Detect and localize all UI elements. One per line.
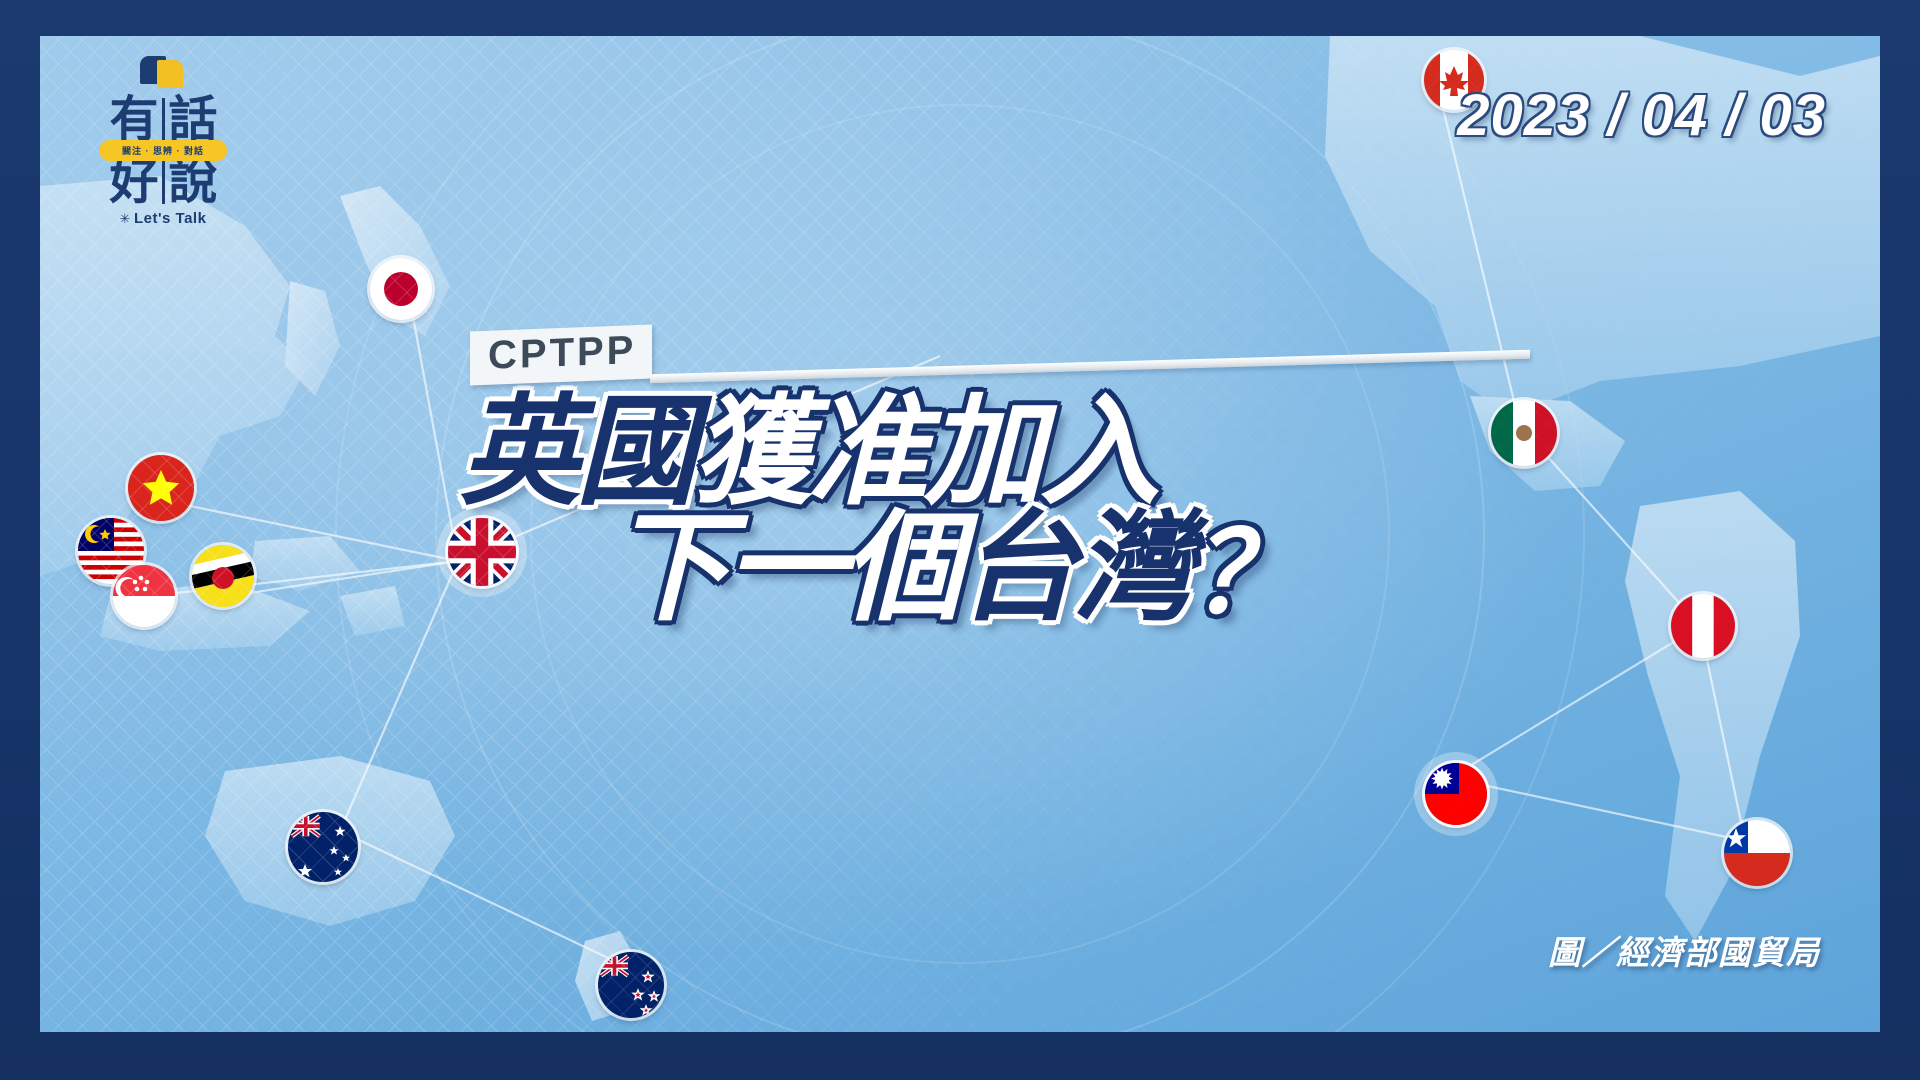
image-credit: 圖／經濟部國貿局	[1548, 926, 1820, 974]
program-logo[interactable]: 有 話 關注 · 思辨 · 對話 好 說 ✳ Let's Talk	[68, 48, 258, 263]
topic-tag-cptpp: CPTPP	[470, 324, 652, 385]
broadcast-date: 2023 / 04 / 03	[1457, 82, 1826, 149]
logo-char-shuo: 說	[169, 158, 217, 206]
logo-row-2: 好 說	[68, 158, 258, 206]
logo-mark-icon	[140, 54, 186, 94]
headline-line-1: 英國 獲准加入	[460, 392, 1530, 514]
logo-subtitle: ✳ Let's Talk	[68, 210, 258, 227]
sparkle-icon: ✳	[120, 211, 131, 227]
headline-line-2: 下一個 台灣 ？	[610, 508, 1530, 630]
topic-tag-rule	[650, 349, 1530, 383]
poster-frame: 有 話 關注 · 思辨 · 對話 好 說 ✳ Let's Talk 2023 /…	[0, 0, 1920, 1080]
headline-line2-question-mark: ？	[1190, 517, 1298, 631]
logo-char-hua: 話	[169, 96, 217, 144]
headline-line2-part2: 台灣	[958, 508, 1190, 630]
logo-row-1: 有 話	[68, 96, 258, 144]
logo-banner: 關注 · 思辨 · 對話	[99, 140, 227, 161]
map-stage: 有 話 關注 · 思辨 · 對話 好 說 ✳ Let's Talk 2023 /…	[40, 36, 1880, 1032]
headline-line1-part1: 英國	[460, 392, 692, 514]
logo-subtitle-text: Let's Talk	[134, 210, 206, 227]
logo-divider	[162, 98, 165, 142]
topic-tag-row: CPTPP	[470, 328, 1530, 382]
headline-line1-part2: 獲准加入	[692, 392, 1156, 514]
logo-char-hao: 好	[109, 158, 157, 206]
logo-char-you: 有	[109, 96, 157, 144]
headline-line2-part1: 下一個	[610, 508, 958, 630]
headline-block: CPTPP 英國 獲准加入 下一個 台灣 ？	[470, 328, 1530, 631]
logo-divider-2	[162, 160, 165, 204]
